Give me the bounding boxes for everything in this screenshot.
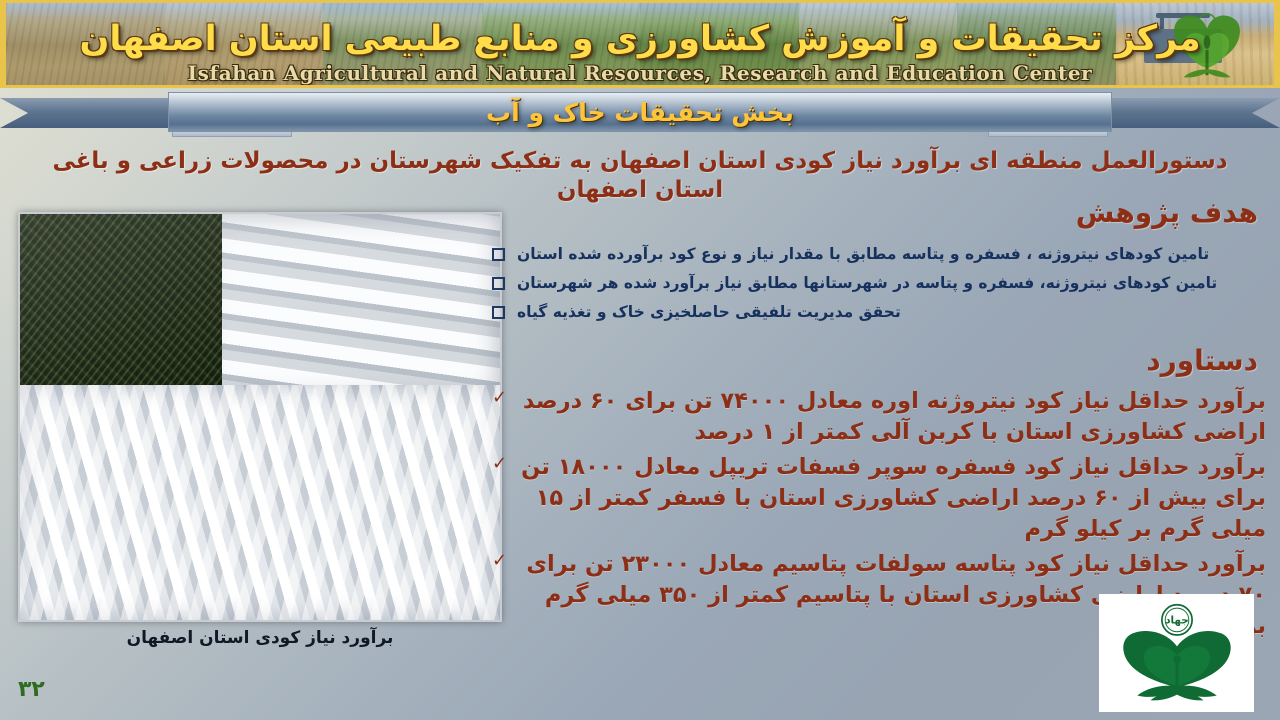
ribbon-main-band: بخش تحقیقات خاک و آب (168, 92, 1112, 132)
achievement-item-label: برآورد حداقل نیاز کود نیتروژنه اوره معاد… (517, 386, 1266, 448)
presentation-slide: مرکز تحقیقات و آموزش کشاورزی و منابع طبی… (0, 0, 1280, 720)
photo-caption: برآورد نیاز کودی استان اصفهان (18, 628, 502, 648)
header-title-english: Isfahan Agricultural and Natural Resourc… (6, 61, 1274, 85)
section-ribbon: بخش تحقیقات خاک و آب (0, 92, 1280, 136)
goal-heading: هدف پژوهش (492, 196, 1258, 230)
goal-item-label: تحقق مدیریت تلفیقی حاصلخیزی خاک و تغذیه … (517, 302, 901, 322)
ribbon-label: بخش تحقیقات خاک و آب (486, 98, 794, 127)
fertilizer-bag-stacks-photo (18, 212, 502, 622)
goal-item-label: تامین کودهای نیتروژنه، فسفره و پتاسه در … (517, 273, 1217, 293)
empty-square-bullet-icon (492, 248, 505, 261)
stacked-bags-upper-right (202, 214, 500, 401)
check-mark-icon: ✓ (492, 549, 507, 573)
goal-list: تامین کودهای نیتروژنه ، فسفره و پتاسه مط… (492, 244, 1272, 322)
achievement-list-item: برآورد حداقل نیاز کود فسفره سوپر فسفات ت… (492, 452, 1266, 545)
stacked-bags-foreground (20, 385, 500, 620)
achievement-list-item: برآورد حداقل نیاز کود نیتروژنه اوره معاد… (492, 386, 1266, 448)
header-title-persian: مرکز تحقیقات و آموزش کشاورزی و منابع طبی… (6, 19, 1274, 59)
goal-item-label: تامین کودهای نیتروژنه ، فسفره و پتاسه مط… (517, 244, 1209, 264)
goal-list-item: تامین کودهای نیتروژنه، فسفره و پتاسه در … (492, 273, 1262, 293)
header-banner: مرکز تحقیقات و آموزش کشاورزی و منابع طبی… (0, 0, 1280, 88)
achievement-item-label: برآورد حداقل نیاز کود فسفره سوپر فسفات ت… (517, 452, 1266, 545)
empty-square-bullet-icon (492, 277, 505, 290)
slide-content: هدف پژوهش تامین کودهای نیتروژنه ، فسفره … (492, 196, 1272, 646)
check-mark-icon: ✓ (492, 386, 507, 410)
achievement-heading: دستاورد (492, 344, 1258, 378)
goal-list-item: تامین کودهای نیتروژنه ، فسفره و پتاسه مط… (492, 244, 1262, 264)
agricultural-jihad-logo: جهاد (1099, 594, 1254, 712)
hedge-background (20, 214, 222, 401)
page-number: ۳۲ (18, 677, 45, 702)
svg-text:جهاد: جهاد (1165, 615, 1189, 627)
goal-list-item: تحقق مدیریت تلفیقی حاصلخیزی خاک و تغذیه … (492, 302, 1262, 322)
empty-square-bullet-icon (492, 306, 505, 319)
agricultural-jihad-logo-icon: جهاد (1107, 601, 1247, 705)
check-mark-icon: ✓ (492, 452, 507, 476)
